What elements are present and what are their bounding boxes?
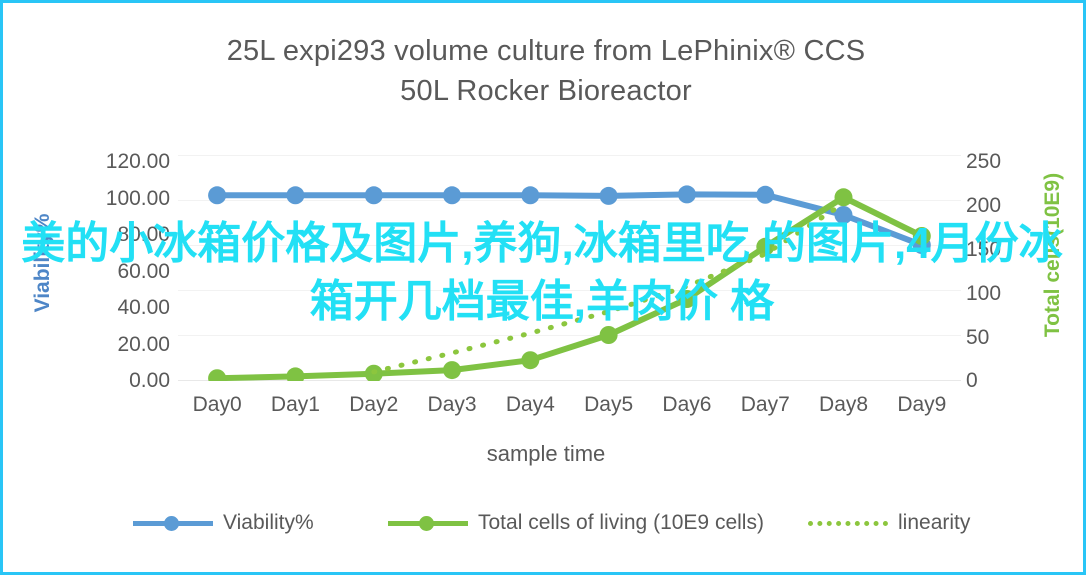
x-tick-day7: Day7: [720, 393, 810, 417]
data-point-0-6: [678, 185, 696, 203]
y-tick-right-200: 200: [966, 194, 1001, 218]
y-tick-left-80: 80.00: [117, 223, 170, 247]
x-tick-day6: Day6: [642, 393, 732, 417]
x-tick-day9: Day9: [877, 393, 967, 417]
y-tick-right-100: 100: [966, 282, 1001, 306]
plot-area: [178, 155, 961, 381]
chart-legend: Viability%Total cells of living (10E9 ce…: [3, 511, 1086, 551]
y-axis-left-title: Viability%: [31, 183, 55, 343]
legend-swatch-icon: [808, 513, 888, 533]
legend-swatch-icon: [388, 513, 468, 533]
y-tick-left-100: 100.00: [106, 187, 170, 211]
data-point-1-3: [443, 361, 461, 379]
x-axis-ticks: Day0Day1Day2Day3Day4Day5Day6Day7Day8Day9: [178, 393, 961, 423]
legend-item-0[interactable]: Viability%: [133, 511, 314, 535]
data-point-0-7: [756, 186, 774, 204]
data-point-1-6: [678, 290, 696, 308]
x-tick-day8: Day8: [799, 393, 889, 417]
x-tick-day5: Day5: [564, 393, 654, 417]
data-point-0-0: [208, 186, 226, 204]
y-tick-left-20: 20.00: [117, 333, 170, 357]
x-tick-day2: Day2: [329, 393, 419, 417]
data-point-0-2: [365, 186, 383, 204]
x-tick-day0: Day0: [172, 393, 262, 417]
data-point-1-1: [286, 367, 304, 381]
data-point-0-4: [521, 186, 539, 204]
data-point-1-4: [521, 351, 539, 369]
data-point-1-9: [913, 227, 931, 245]
y-tick-right-0: 0: [966, 369, 978, 393]
series-line-2: [374, 204, 844, 372]
y-axis-left: 120.00 100.00 80.00 60.00 40.00 20.00 0.…: [58, 3, 170, 575]
data-point-1-7: [756, 238, 774, 256]
series-line-0: [217, 194, 922, 245]
y-axis-right: 250 200 150 100 50 0: [966, 3, 1026, 575]
y-tick-left-0: 0.00: [129, 369, 170, 393]
legend-item-1[interactable]: Total cells of living (10E9 cells): [388, 511, 764, 535]
y-tick-right-50: 50: [966, 326, 989, 350]
x-tick-day4: Day4: [485, 393, 575, 417]
series-line-1: [217, 197, 922, 378]
data-point-0-8: [835, 206, 853, 224]
data-point-1-5: [600, 326, 618, 344]
y-tick-right-250: 250: [966, 150, 1001, 174]
chart-frame: 25L expi293 volume culture from LePhinix…: [0, 0, 1086, 575]
data-point-1-8: [835, 188, 853, 206]
y-tick-right-150: 150: [966, 238, 1001, 262]
legend-label: Total cells of living (10E9 cells): [478, 511, 764, 535]
data-point-0-3: [443, 186, 461, 204]
series-lines: [178, 155, 961, 381]
legend-item-2[interactable]: linearity: [808, 511, 970, 535]
legend-swatch-icon: [133, 513, 213, 533]
x-tick-day3: Day3: [407, 393, 497, 417]
legend-label: linearity: [898, 511, 970, 535]
y-axis-right-title: Total cells(10E9): [1041, 155, 1065, 355]
y-tick-left-40: 40.00: [117, 296, 170, 320]
y-tick-left-120: 120.00: [106, 150, 170, 174]
chart-title-line1: 25L expi293 volume culture from LePhinix…: [227, 35, 866, 67]
data-point-0-5: [600, 187, 618, 205]
y-tick-left-60: 60.00: [117, 260, 170, 284]
data-point-1-0: [208, 369, 226, 381]
x-axis-title: sample time: [3, 441, 1086, 467]
data-point-0-1: [286, 186, 304, 204]
legend-label: Viability%: [223, 511, 314, 535]
x-tick-day1: Day1: [250, 393, 340, 417]
